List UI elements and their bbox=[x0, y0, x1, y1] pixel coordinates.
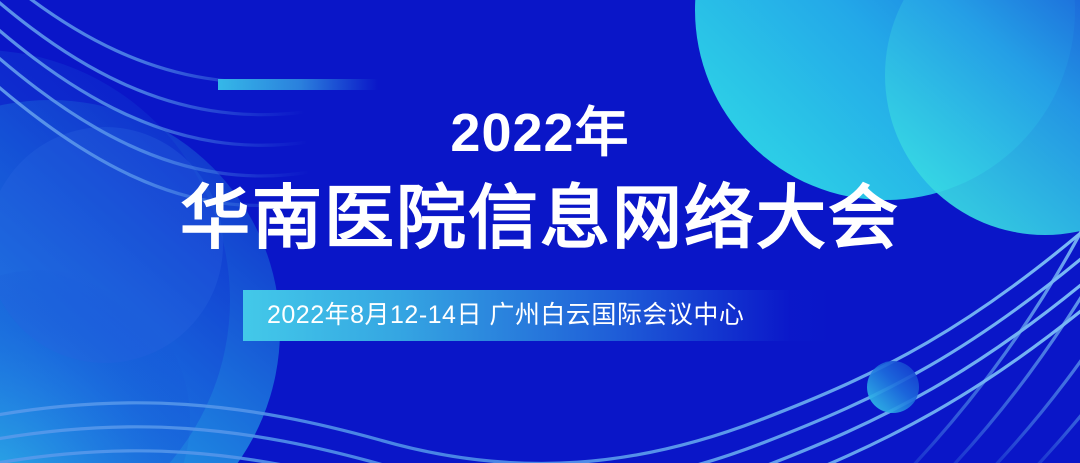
banner-year: 2022年 bbox=[0, 103, 1080, 163]
banner-subtitle: 2022年8月12-14日 广州白云国际会议中心 bbox=[243, 290, 744, 341]
accent-gradient-bar bbox=[218, 79, 378, 90]
banner-main-title: 华南医院信息网络大会 bbox=[0, 178, 1080, 258]
conference-banner: 2022年 华南医院信息网络大会 2022年8月12-14日 广州白云国际会议中… bbox=[0, 0, 1080, 463]
subtitle-gradient-bar: 2022年8月12-14日 广州白云国际会议中心 bbox=[243, 290, 837, 341]
banner-content: 2022年 华南医院信息网络大会 2022年8月12-14日 广州白云国际会议中… bbox=[0, 0, 1080, 463]
